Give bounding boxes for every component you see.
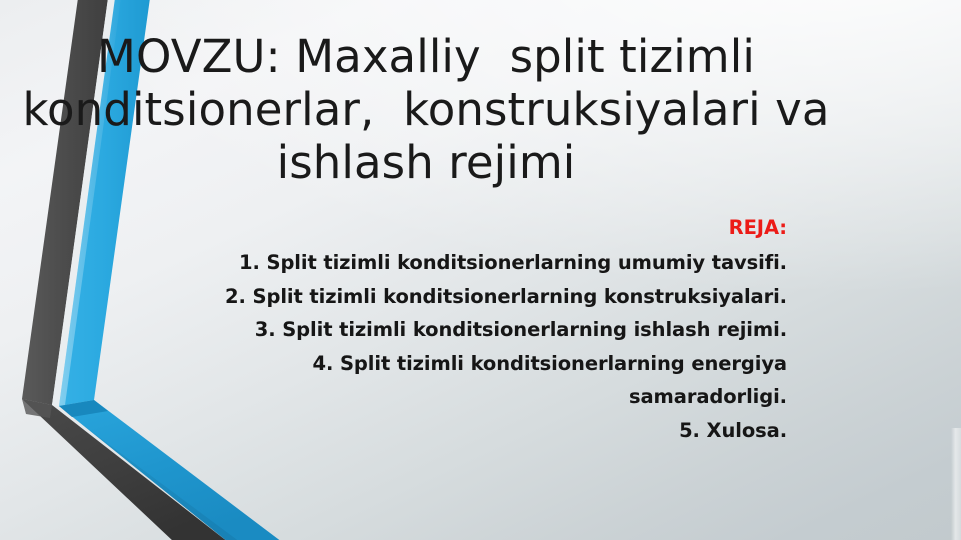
slide-canvas: MOVZU: Maxalliy split tizimli konditsion… bbox=[0, 0, 961, 540]
plan-item-4: 4. Split tizimli konditsionerlarning ene… bbox=[173, 347, 787, 414]
plan-item-3: 3. Split tizimli konditsionerlarning ish… bbox=[173, 313, 787, 347]
slide-title: MOVZU: Maxalliy split tizimli konditsion… bbox=[0, 30, 852, 189]
ribbon-blue-bend-facet bbox=[59, 400, 108, 417]
plan-heading: REJA: bbox=[173, 213, 787, 243]
plan-item-1: 1. Split tizimli konditsionerlarning umu… bbox=[173, 246, 787, 280]
plan-item-2: 2. Split tizimli konditsionerlarning kon… bbox=[173, 280, 787, 314]
ribbon-gray-bend-facet bbox=[22, 399, 52, 418]
background-right-highlight bbox=[951, 428, 961, 540]
plan-block: REJA: 1. Split tizimli konditsionerlarni… bbox=[173, 213, 787, 447]
plan-item-5: 5. Xulosa. bbox=[173, 414, 787, 448]
